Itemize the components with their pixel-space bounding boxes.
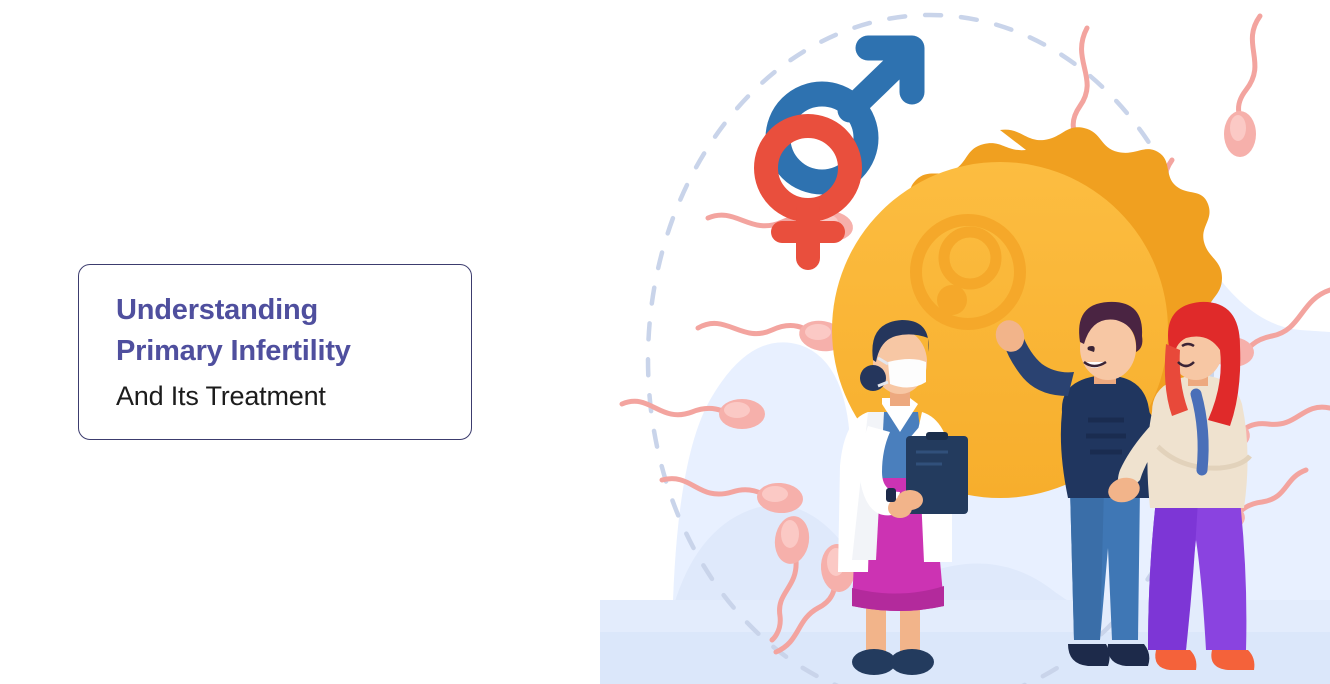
woman-shoe-left (1155, 650, 1196, 670)
doctor-face-mask (888, 359, 926, 388)
doctor-hair-bun (860, 365, 886, 391)
title-card: Understanding Primary Infertility And It… (78, 264, 472, 440)
illustration-canvas (600, 0, 1330, 684)
man-jeans-shade (1070, 488, 1104, 640)
sperm-cell (1224, 16, 1260, 157)
page-subtitle: And Its Treatment (116, 377, 471, 415)
doctor-shoe-right (890, 649, 934, 675)
page-title-line-1: Understanding (116, 290, 471, 331)
doctor-watch (886, 488, 896, 502)
page-title-line-2: Primary Infertility (116, 331, 471, 372)
sperm-cell (622, 399, 765, 429)
ovum-vesicle (937, 285, 967, 315)
sperm-cells-top-right (1224, 16, 1260, 157)
woman-shoe-right (1211, 650, 1254, 670)
doctor-shoe-left (852, 649, 896, 675)
fertility-illustration (600, 0, 1330, 684)
banner-root: Understanding Primary Infertility And It… (0, 0, 1330, 684)
